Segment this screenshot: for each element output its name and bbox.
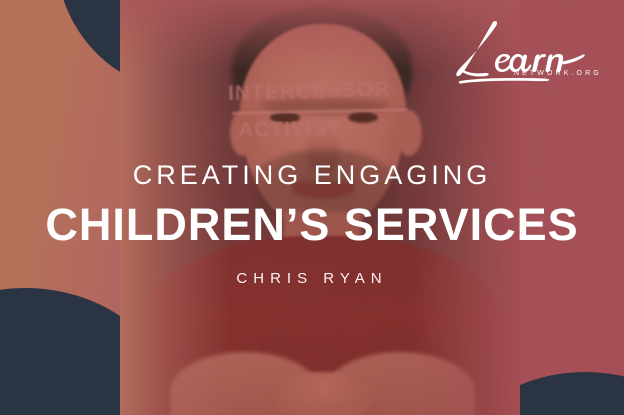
- title-line-2: CHILDREN’S SERVICES: [0, 202, 624, 247]
- learn-network-logo: NETWORK.ORG: [452, 18, 604, 90]
- title-block: CREATING ENGAGING CHILDREN’S SERVICES CH…: [0, 162, 624, 286]
- title-card-slide: INTERCESSOR ACTIVIST: [0, 0, 624, 415]
- title-line-1: CREATING ENGAGING: [0, 162, 624, 189]
- learn-script-wordmark-icon: [452, 18, 604, 90]
- speaker-name: CHRIS RYAN: [0, 271, 624, 286]
- logo-subtitle: NETWORK.ORG: [514, 70, 602, 77]
